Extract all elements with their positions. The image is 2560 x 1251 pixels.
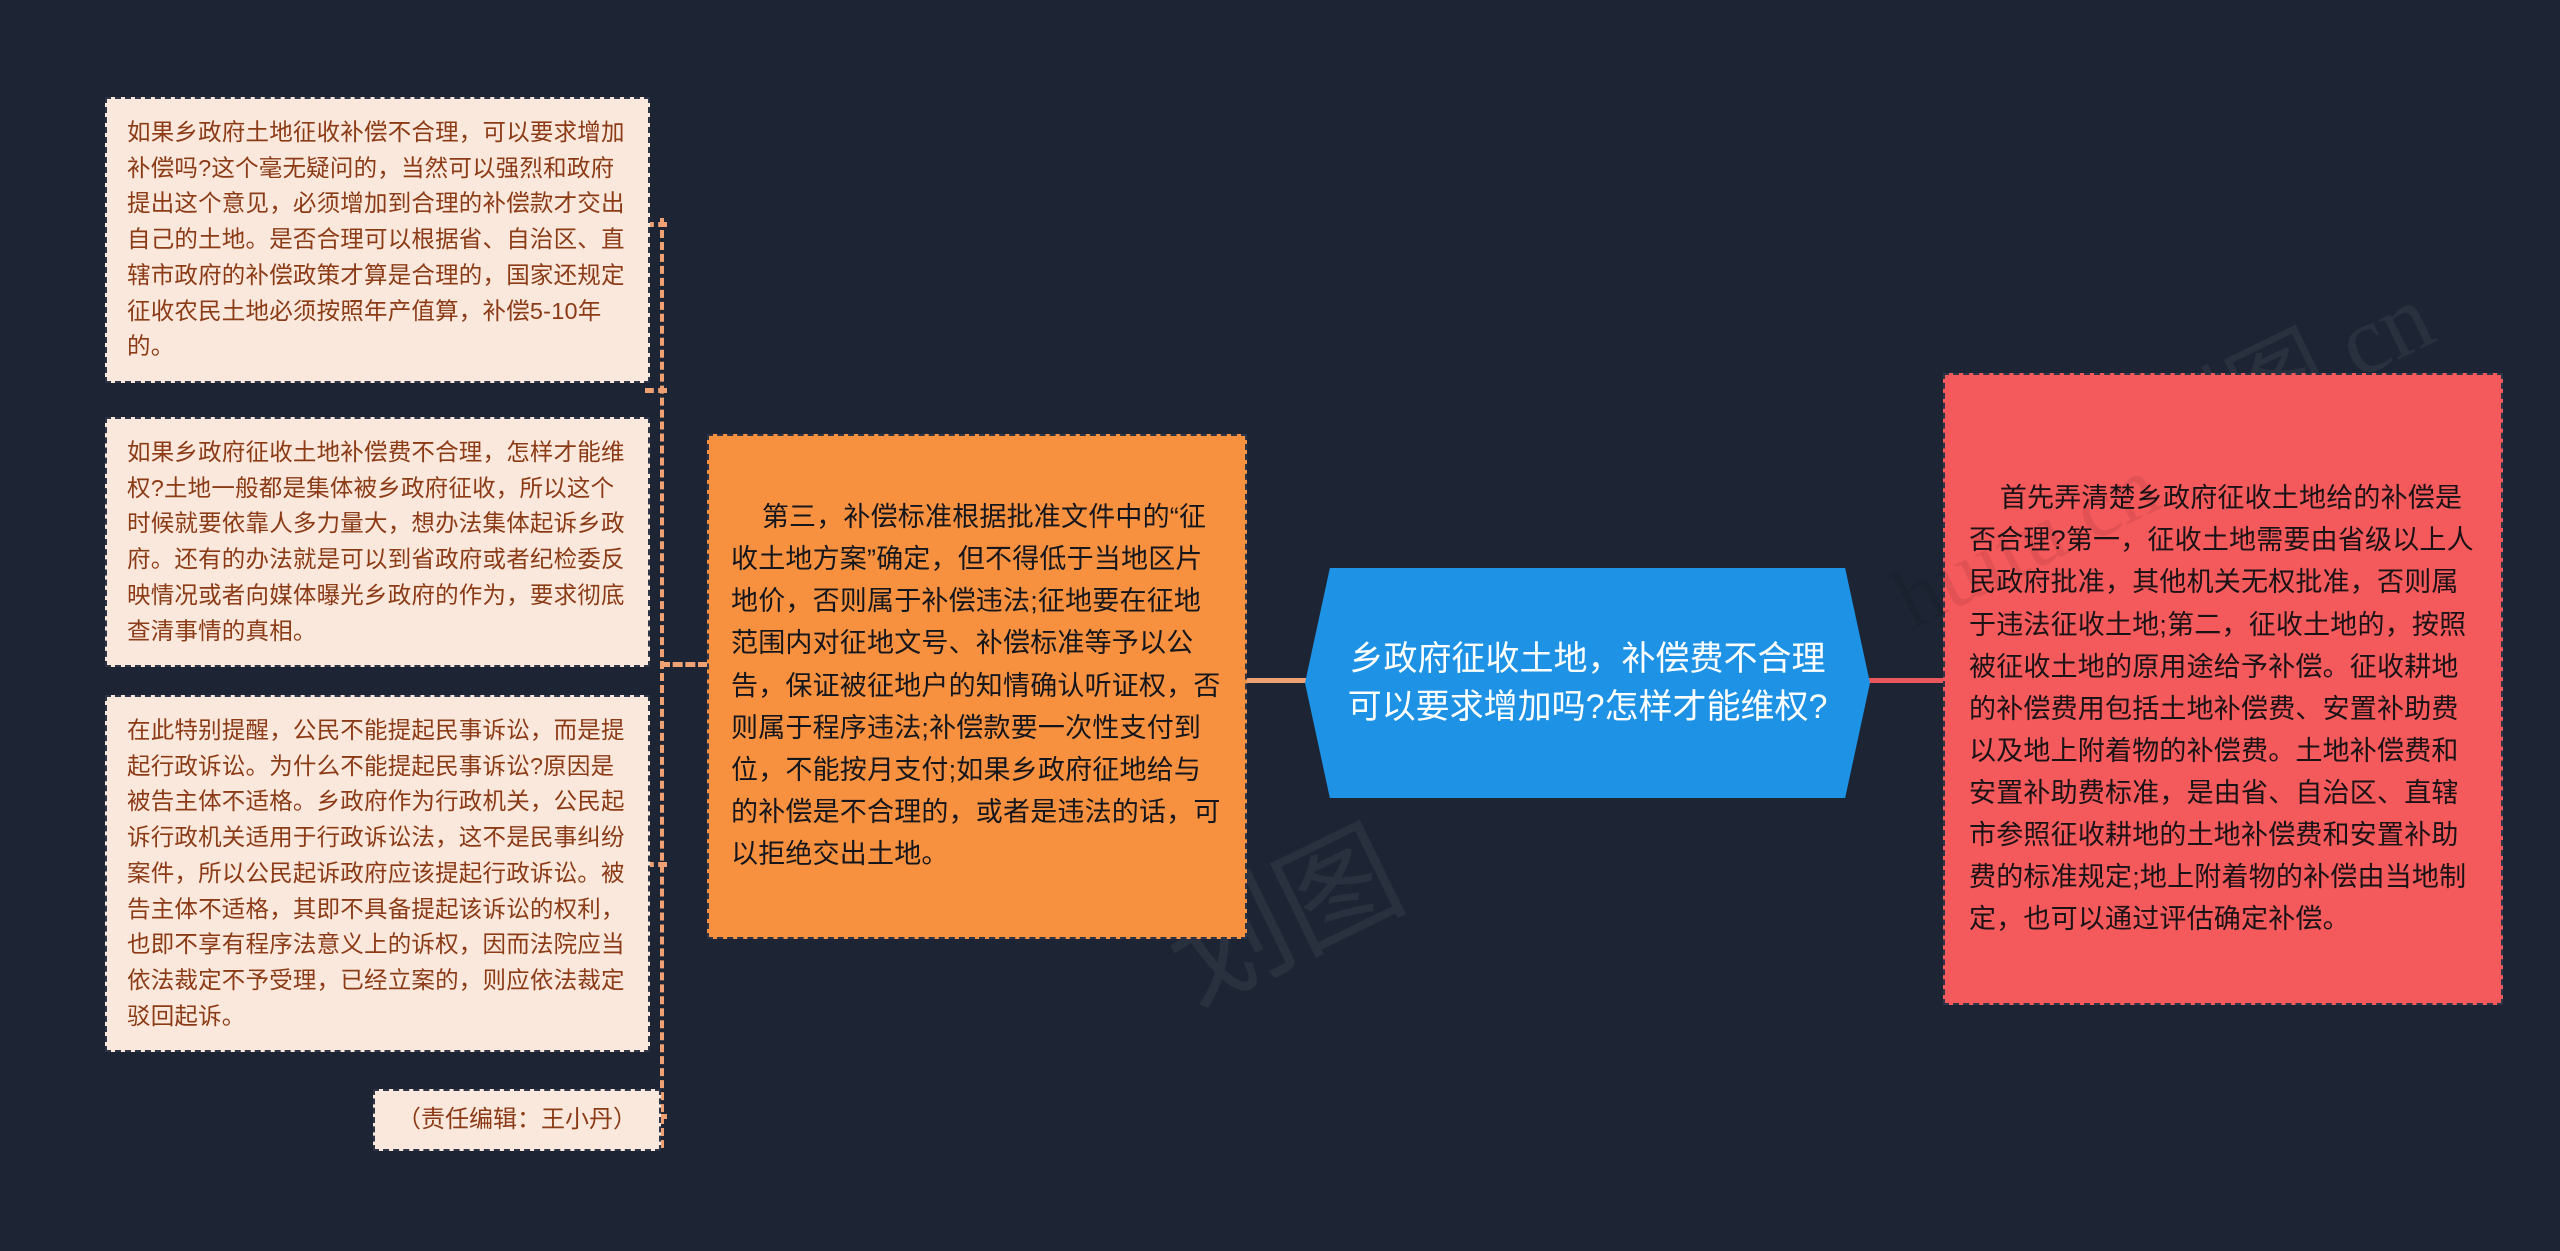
- orange-branch-node[interactable]: 第三，补偿标准根据批准文件中的“征收土地方案”确定，但不得低于当地区片地价，否则…: [707, 434, 1247, 939]
- left-leaf-node-1[interactable]: 如果乡政府土地征收补偿不合理，可以要求增加补偿吗?这个毫无疑问的，当然可以强烈和…: [105, 97, 650, 383]
- connector-left-spine: [660, 218, 664, 1148]
- left-leaf-node-2[interactable]: 如果乡政府征收土地补偿费不合理，怎样才能维权?土地一般都是集体被乡政府征收，所以…: [105, 417, 650, 667]
- center-root-title: 乡政府征收土地，补偿费不合理可以要求增加吗?怎样才能维权?: [1305, 568, 1870, 798]
- connector-spine-to-orange: [660, 662, 708, 667]
- orange-branch-text: 第三，补偿标准根据批准文件中的“征收土地方案”确定，但不得低于当地区片地价，否则…: [731, 502, 1221, 869]
- center-root-node[interactable]: 乡政府征收土地，补偿费不合理可以要求增加吗?怎样才能维权?: [1305, 568, 1870, 798]
- red-branch-text: 首先弄清楚乡政府征收土地给的补偿是否合理?第一，征收土地需要由省级以上人民政府批…: [1969, 483, 2474, 934]
- left-leaf-node-4-editor-credit[interactable]: （责任编辑：王小丹）: [373, 1089, 661, 1151]
- red-branch-node[interactable]: huitu.cn 首先弄清楚乡政府征收土地给的补偿是否合理?第一，征收土地需要由…: [1943, 373, 2503, 1005]
- connector-leaf-2-stub: [645, 388, 667, 393]
- left-leaf-node-3[interactable]: 在此特别提醒，公民不能提起民事诉讼，而是提起行政诉讼。为什么不能提起民事诉讼?原…: [105, 695, 650, 1052]
- mindmap-canvas: 划图.fb.cn 划图 划图.cn 如果乡政府土地征收补偿不合理，可以要求增加补…: [0, 0, 2560, 1251]
